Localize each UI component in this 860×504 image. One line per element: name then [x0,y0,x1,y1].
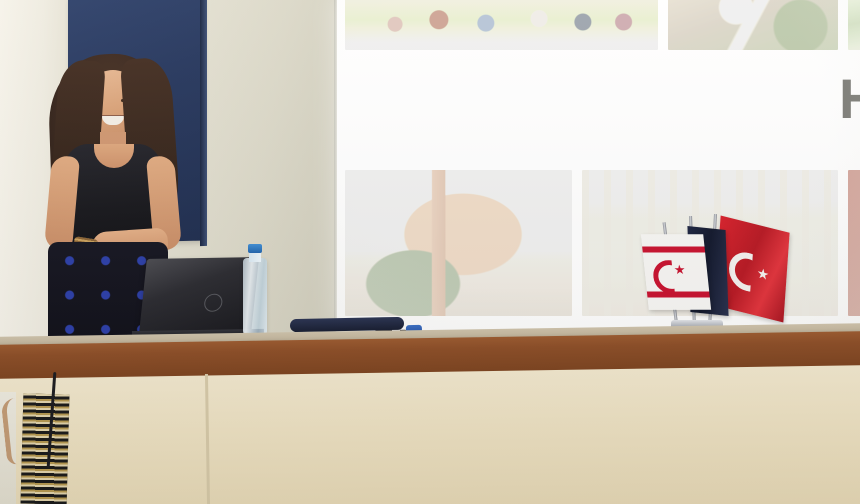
slide-photo-gothic-cathedral [345,170,572,316]
slide-photo-beach-umbrellas [848,170,860,316]
turkey-star-icon: ★ [756,265,769,282]
presentation-photo-scene: Ea Med n Hoş geldiniz [0,0,860,504]
water-bottle [243,258,267,336]
slide-photo-green-park [848,0,860,50]
laptop-logo-icon [203,294,223,312]
slide-top-photo-strip [345,0,860,50]
slide-headline: Hoş geldiniz [839,66,860,131]
laptop [139,257,259,335]
desk-front-panel [0,365,860,504]
slide-photo-students-on-lawn [345,0,658,50]
slide-photo-aerial-campus [668,0,838,50]
bottle-cap [248,244,262,253]
flag-stand-group: ★ [645,212,765,340]
trnc-flag [641,234,711,310]
